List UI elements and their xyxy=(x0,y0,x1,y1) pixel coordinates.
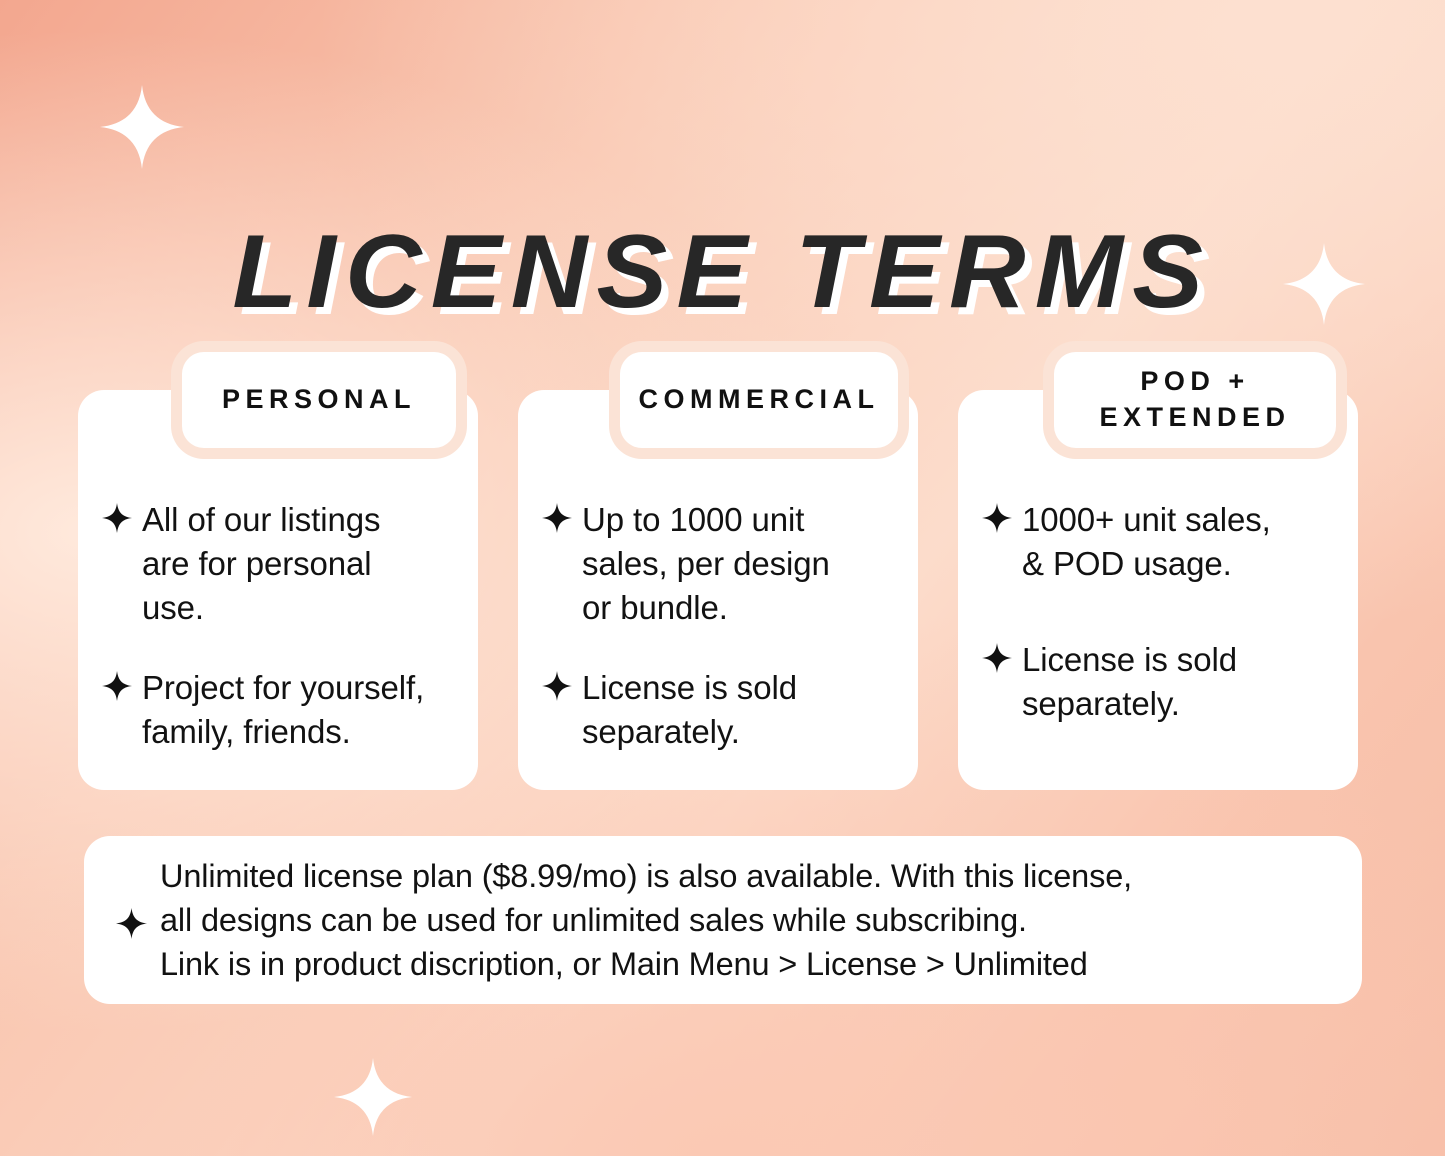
list-item-text: 1000+ unit sales, & POD usage. xyxy=(1022,498,1271,586)
card-body-commercial: Up to 1000 unit sales, per design or bun… xyxy=(518,498,918,753)
sparkle-bullet-icon xyxy=(542,498,576,533)
card-body-pod-extended: 1000+ unit sales, & POD usage. License i… xyxy=(958,498,1358,726)
license-cards-row: All of our listings are for personal use… xyxy=(78,352,1368,792)
card-badge-label: PERSONAL xyxy=(222,382,416,418)
list-item-text: License is sold separately. xyxy=(1022,638,1237,726)
license-card-pod-extended[interactable]: 1000+ unit sales, & POD usage. License i… xyxy=(958,390,1358,790)
list-item-text: Up to 1000 unit sales, per design or bun… xyxy=(582,498,830,630)
list-item: All of our listings are for personal use… xyxy=(102,498,456,630)
sparkle-bullet-icon xyxy=(116,902,152,939)
card-body-personal: All of our listings are for personal use… xyxy=(78,498,478,753)
list-item-text: License is sold separately. xyxy=(582,666,797,754)
card-badge-label: COMMERCIAL xyxy=(639,382,880,418)
list-item: 1000+ unit sales, & POD usage. xyxy=(982,498,1336,586)
page-title: LICENSE TERMS xyxy=(233,220,1213,324)
card-badge-commercial: COMMERCIAL xyxy=(620,352,898,448)
license-card-commercial[interactable]: Up to 1000 unit sales, per design or bun… xyxy=(518,390,918,790)
sparkle-bullet-icon xyxy=(982,498,1016,533)
list-item-text: Project for yourself, family, friends. xyxy=(142,666,424,754)
license-card-personal[interactable]: All of our listings are for personal use… xyxy=(78,390,478,790)
sparkle-bullet-icon xyxy=(102,498,136,533)
list-item: License is sold separately. xyxy=(542,666,896,754)
card-badge-personal: PERSONAL xyxy=(182,352,456,448)
card-badge-pod-extended: POD + EXTENDED xyxy=(1054,352,1336,448)
unlimited-plan-banner[interactable]: Unlimited license plan ($8.99/mo) is als… xyxy=(84,836,1362,1004)
card-badge-label: POD + EXTENDED xyxy=(1099,364,1290,435)
sparkle-bullet-icon xyxy=(982,638,1016,673)
list-item: License is sold separately. xyxy=(982,638,1336,726)
list-item: Up to 1000 unit sales, per design or bun… xyxy=(542,498,896,630)
license-terms-poster: LICENSE TERMS All of our listings are fo… xyxy=(0,0,1445,1156)
list-item: Project for yourself, family, friends. xyxy=(102,666,456,754)
sparkle-bottom-icon xyxy=(334,1058,412,1136)
sparkle-bullet-icon xyxy=(542,666,576,701)
sparkle-bullet-icon xyxy=(102,666,136,701)
unlimited-plan-text: Unlimited license plan ($8.99/mo) is als… xyxy=(160,854,1132,987)
list-item-text: All of our listings are for personal use… xyxy=(142,498,380,630)
